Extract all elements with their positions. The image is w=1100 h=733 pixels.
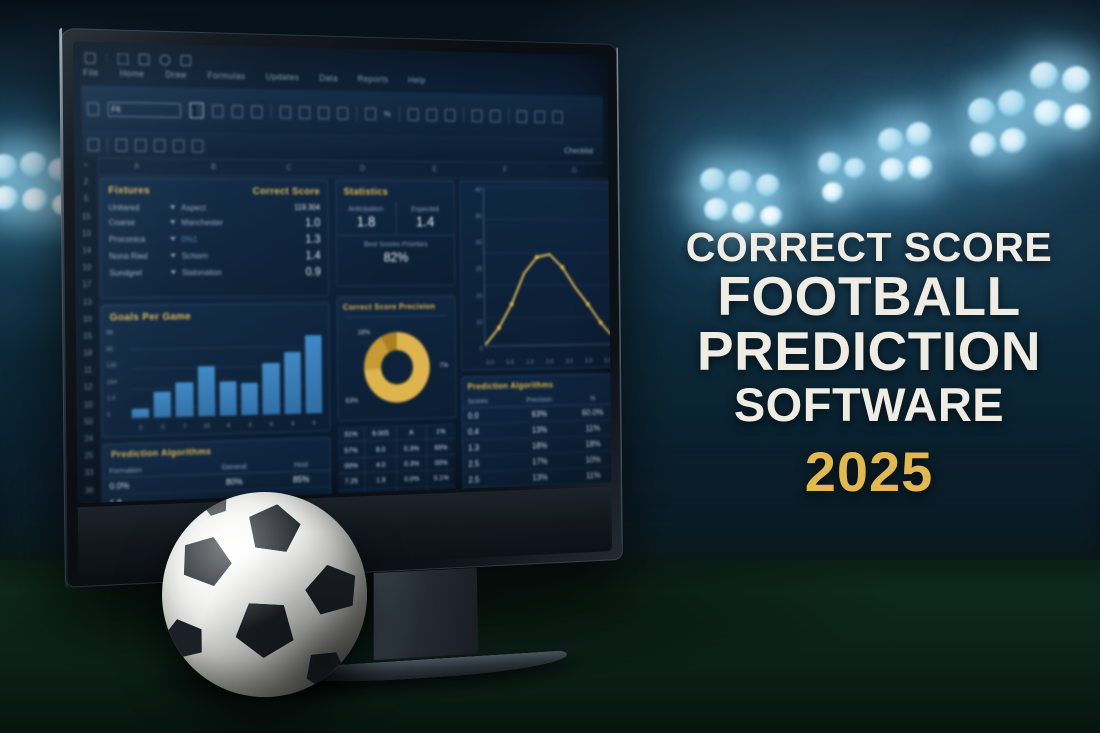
underline-icon[interactable]	[251, 105, 262, 118]
stat-label: Expected	[396, 204, 454, 213]
y-tick: 1.4	[107, 395, 130, 402]
sort-icon[interactable]	[116, 138, 128, 151]
row-number: 13	[83, 298, 92, 306]
fill-icon[interactable]	[534, 110, 544, 122]
grid-cell: 9.005	[364, 425, 396, 441]
stat-value: 1.8	[336, 214, 395, 230]
floodlight-cluster-right-3	[878, 122, 964, 200]
grid-cell: 7.25	[338, 473, 365, 490]
x-tick: 6	[263, 421, 280, 428]
fixture-score: 0.9	[306, 264, 321, 278]
chevron-down-icon[interactable]	[170, 236, 176, 240]
row-number: 15	[82, 213, 91, 221]
stat-best-scores: Best Scores Priorities 82%	[337, 235, 455, 271]
floodlight-lamp	[1000, 128, 1027, 154]
chevron-down-icon[interactable]	[170, 205, 176, 209]
fixture-row[interactable]: Unitared Aspect 119.304	[101, 200, 328, 214]
headline-line-2: FOOTBALL	[683, 271, 1055, 323]
column-header[interactable]: D	[326, 160, 399, 177]
ball-body	[162, 492, 367, 697]
floodlight-lamp	[1030, 62, 1059, 90]
fixture-home: Sundgrel	[109, 267, 165, 277]
row-number-gutter: ⌁ 2 5 15 13 14 10 17 13 10 15 18 11 12 1…	[74, 157, 102, 503]
sum-icon[interactable]	[516, 110, 526, 122]
x-tick: 4	[242, 422, 259, 429]
floodlight-lamp	[968, 98, 996, 125]
row-number: 12	[84, 384, 93, 392]
column-header-precision[interactable]: Precision	[510, 392, 567, 407]
grid-cell: 00%	[426, 454, 455, 470]
fixture-home: Proconica	[109, 233, 165, 243]
floodlight-lamp	[732, 202, 756, 224]
column-header[interactable]: E	[399, 161, 470, 178]
floodlight-lamp	[880, 158, 905, 182]
fixture-row[interactable]: Nona Ried Schism 1.4	[101, 246, 328, 263]
statistics-title: Statistics	[336, 180, 453, 202]
stat-expected: Expected 1.4	[395, 202, 454, 235]
row-number: 10	[83, 264, 92, 272]
floodlight-lamp	[22, 188, 48, 212]
menu-item-reports[interactable]: Reports	[358, 74, 389, 90]
bar	[241, 382, 258, 415]
y-tick: 0	[107, 411, 130, 419]
formula-cell[interactable]: 1	[190, 102, 204, 118]
line-chart-x-axis: 0.0 0.5 1.0 2.0 3.0 3.5 5.0	[486, 357, 611, 366]
grid-cell: 65%	[426, 439, 455, 455]
goals-per-game-title: Goals Per Game	[102, 303, 329, 327]
pivot-icon[interactable]	[192, 139, 203, 152]
undo-icon[interactable]	[118, 53, 129, 64]
floodlight-lamp	[818, 152, 842, 175]
fixture-home: Coarse	[109, 217, 165, 227]
cell-score: 1.3	[463, 439, 511, 457]
row-number: 11	[84, 367, 92, 375]
row-number: 2	[84, 178, 88, 186]
grid-cell: 8.0	[364, 441, 396, 458]
row-number: 10	[83, 315, 92, 323]
y-tick: 10	[465, 319, 482, 326]
fixture-home: Nona Ried	[109, 250, 165, 260]
precision-title: Correct Score Precision	[337, 296, 454, 313]
monitor-neck	[374, 568, 479, 660]
floodlight-lamp	[908, 156, 933, 180]
grid-cell: 0.0%	[397, 471, 427, 488]
stat-value: 1.4	[396, 214, 454, 230]
line-chart-plot	[483, 187, 611, 352]
bar	[284, 352, 301, 414]
soccer-ball	[162, 492, 367, 697]
spreadsheet-app: File Home Draw Formulas Updates Data Rep…	[73, 41, 611, 503]
bar	[154, 391, 172, 417]
settings-icon[interactable]	[181, 55, 191, 66]
floodlight-lamp	[1064, 104, 1092, 131]
monitor-screen: File Home Draw Formulas Updates Data Rep…	[73, 41, 611, 503]
x-tick: 2.0	[546, 359, 554, 366]
headline-line-1: CORRECT SCORE	[683, 228, 1055, 267]
y-tick: 40	[464, 187, 481, 194]
column-header-general[interactable]: General	[196, 458, 272, 475]
row-number: 36	[85, 486, 94, 494]
grid-cell: A	[396, 425, 426, 441]
column-header-percent[interactable]: %	[568, 391, 612, 406]
row-number: 5	[84, 195, 88, 203]
fixture-score: 1.4	[305, 248, 320, 262]
row-number: 14	[82, 247, 91, 255]
floodlight-lamp	[700, 168, 726, 192]
name-box[interactable]: F6	[108, 101, 182, 117]
stat-label: Anticipation	[336, 204, 395, 213]
x-tick: 1.0	[526, 359, 534, 366]
save-icon[interactable]	[85, 52, 96, 63]
select-all-icon[interactable]: ⌁	[83, 161, 88, 169]
y-tick: 164	[106, 378, 129, 385]
align-left-icon[interactable]	[280, 106, 291, 119]
x-tick: 3.0	[565, 358, 573, 365]
bar	[262, 363, 279, 415]
y-tick: 35	[464, 213, 481, 220]
bar	[176, 382, 194, 417]
cell-score: 0.4	[463, 423, 511, 440]
y-tick: 25	[465, 266, 482, 273]
insert-icon[interactable]	[471, 109, 482, 121]
conditional-format-icon[interactable]	[407, 108, 418, 121]
y-tick: 95	[106, 346, 129, 353]
font-color-icon[interactable]	[88, 138, 100, 151]
grid-cell: 4.0	[365, 456, 397, 473]
cell-score: 2.5	[463, 470, 511, 488]
floodlight-lamp	[20, 152, 47, 177]
floodlight-lamp	[756, 174, 780, 197]
menu-item-file[interactable]: File	[83, 67, 99, 83]
column-header[interactable]: C	[251, 159, 326, 176]
floodlight-lamp	[906, 122, 932, 147]
chevron-down-icon[interactable]	[170, 270, 176, 274]
row-number: 15	[83, 332, 92, 340]
column-header-host[interactable]: Host	[272, 456, 330, 472]
redo-icon[interactable]	[139, 53, 150, 64]
fixture-row[interactable]: Sundgrel Stalonation 0.9	[101, 263, 328, 281]
y-tick: 98	[106, 329, 129, 336]
floodlight-lamp	[0, 186, 19, 211]
fixture-home: Unitared	[109, 202, 165, 212]
fixture-away: Stalonation	[182, 267, 249, 277]
paste-icon[interactable]	[87, 102, 99, 115]
grid-cell: 57%	[338, 442, 365, 459]
row-number: 18	[83, 350, 92, 358]
statistics-panel: Statistics Anticipation 1.8 Expected 1.4	[335, 179, 455, 287]
floodlight-lamp	[1034, 100, 1062, 127]
bar-chart-plot	[131, 328, 322, 418]
donut-label-left: 63%	[346, 398, 359, 405]
x-tick: 0	[132, 425, 149, 432]
cell-score: 0.0	[463, 407, 511, 424]
headline-line-3: PREDICTION	[683, 326, 1055, 378]
fixture-away: 0%1	[181, 233, 248, 243]
bar	[132, 409, 150, 418]
merge-cells-icon[interactable]	[337, 107, 348, 120]
floodlight-lamp	[1062, 66, 1091, 94]
bar	[198, 366, 216, 416]
number-format-icon[interactable]	[365, 107, 376, 120]
column-header-scores[interactable]: Scores	[462, 393, 510, 408]
ball-lighting	[162, 492, 367, 697]
stat-anticipation: Anticipation 1.8	[336, 201, 395, 235]
cell-percent: 18%	[568, 435, 611, 452]
floodlight-lamp	[704, 198, 729, 221]
column-header[interactable]: B	[175, 158, 251, 175]
delete-icon[interactable]	[490, 109, 500, 121]
bar	[219, 381, 236, 416]
donut-label-top: 18%	[357, 330, 370, 337]
grid-cell: 0.3%	[397, 440, 427, 457]
x-tick: 3.5	[585, 358, 593, 365]
menu-item-formulas[interactable]: Formulas	[207, 70, 245, 86]
y-tick: 0	[465, 346, 482, 353]
chart-icon[interactable]	[173, 139, 184, 152]
ribbon-label-percent: %	[384, 109, 391, 119]
chevron-down-icon[interactable]	[170, 220, 176, 224]
precision-donut-panel: Correct Score Precision 18% 7% 63%	[336, 295, 456, 421]
fixture-away: Aspect	[181, 202, 249, 212]
cell-percent: 60.0%	[568, 404, 611, 421]
row-number: 17	[83, 281, 92, 289]
grid-cell: 31%	[338, 426, 365, 442]
x-tick: 7	[176, 423, 193, 430]
line-chart-panel: 40 35 30 25 20 10 0	[459, 180, 611, 371]
fixture-away: Schism	[182, 250, 249, 260]
stat-value: 82%	[337, 249, 454, 265]
x-tick: 0.0	[486, 360, 494, 367]
headline-year: 2025	[683, 439, 1055, 504]
floodlight-lamp	[998, 90, 1026, 117]
floodlight-lamp	[0, 154, 18, 180]
clear-icon[interactable]	[552, 111, 562, 123]
cell-percent: 10%	[568, 451, 611, 468]
menu-item-help[interactable]: Help	[408, 75, 426, 91]
x-tick: 4	[220, 422, 237, 429]
bar-chart-x-axis: 0 0 7 15 4 4 6 8 9	[132, 420, 322, 432]
y-tick: 20	[465, 293, 482, 300]
grid-cell: 1%	[426, 424, 455, 440]
cell-percent: 11%	[568, 466, 611, 484]
goals-per-game-panel: Goals Per Game 98 95 130 164 1.4 0	[101, 302, 331, 438]
promo-banner: File Home Draw Formulas Updates Data Rep…	[0, 0, 1100, 733]
fixture-score: 1.0	[305, 215, 320, 229]
bold-icon[interactable]	[212, 104, 223, 117]
italic-icon[interactable]	[232, 105, 243, 118]
cell-percent: 11%	[568, 420, 611, 437]
y-tick: 130	[106, 362, 129, 369]
line-chart-y-axis: 40 35 30 25 20 10 0	[464, 187, 483, 353]
grid-cell: 00%	[338, 457, 365, 474]
floodlight-lamp	[970, 132, 997, 158]
fixture-row[interactable]: Coarse Manchester 1.0	[101, 213, 328, 230]
stat-label: Best Scores Priorities	[337, 240, 454, 249]
correct-score-header: Correct Score	[245, 179, 327, 201]
filter-icon[interactable]	[135, 138, 147, 151]
headline-block: CORRECT SCORE FOOTBALL PREDICTION SOFTWA…	[683, 228, 1055, 504]
align-right-icon[interactable]	[318, 106, 329, 119]
y-tick: 30	[464, 240, 481, 247]
cell-precision: 13%	[511, 421, 568, 439]
align-center-icon[interactable]	[299, 106, 310, 119]
grid-cell: 0.3%	[397, 455, 427, 472]
checklist-label[interactable]: Checklist	[564, 146, 593, 156]
table-icon[interactable]	[160, 54, 171, 65]
row-number: 50	[84, 418, 93, 426]
row-number: 10	[84, 401, 93, 409]
dashboard-canvas: Fixtures Correct Score Unitared Aspect 1…	[100, 177, 608, 498]
column-header[interactable]: G	[540, 162, 609, 178]
cell-score: 2.5	[463, 454, 511, 472]
floodlight-cluster-right-5	[1030, 62, 1100, 157]
row-number: 33	[85, 469, 94, 477]
fixtures-panel: Fixtures Correct Score Unitared Aspect 1…	[100, 177, 330, 298]
x-tick: 9	[306, 420, 323, 427]
x-tick: 15	[198, 423, 215, 430]
cell-precision: 63%	[511, 405, 568, 422]
fixture-score: 119.304	[294, 203, 320, 212]
grid-cell: 0.1%	[427, 470, 456, 487]
row-number: 25	[84, 452, 93, 460]
grid-cell: 1.9	[365, 472, 397, 489]
x-tick: 8	[284, 420, 301, 427]
fixture-row[interactable]: Proconica 0%1 1.3	[101, 230, 328, 247]
cell-styles-icon[interactable]	[444, 109, 455, 121]
column-header[interactable]: F	[470, 161, 540, 178]
fixtures-title: Fixtures	[101, 178, 158, 200]
find-icon[interactable]	[154, 139, 166, 152]
table-format-icon[interactable]	[426, 108, 437, 121]
donut-label-right: 7%	[439, 362, 448, 369]
floodlight-lamp	[822, 182, 844, 203]
menu-item-updates[interactable]: Updates	[266, 72, 299, 88]
bar	[305, 335, 322, 413]
chevron-down-icon[interactable]	[170, 253, 176, 257]
x-tick: 0	[154, 424, 171, 431]
row-number: 24	[84, 435, 93, 443]
bar-chart-y-axis: 98 95 130 164 1.4 0	[106, 329, 130, 419]
floodlight-lamp	[728, 170, 753, 193]
menu-item-home[interactable]: Home	[120, 68, 145, 84]
menu-item-data[interactable]: Data	[319, 73, 338, 89]
fixture-away: Manchester	[181, 217, 248, 227]
menu-item-draw[interactable]: Draw	[165, 69, 187, 85]
floodlight-lamp	[878, 128, 904, 153]
row-number: 13	[82, 230, 91, 238]
headline-line-4: SOFTWARE	[683, 383, 1055, 427]
column-header[interactable]: A	[97, 157, 175, 175]
x-tick: 0.5	[506, 359, 514, 366]
floodlight-lamp	[844, 158, 866, 179]
fixture-score: 1.3	[305, 232, 320, 246]
